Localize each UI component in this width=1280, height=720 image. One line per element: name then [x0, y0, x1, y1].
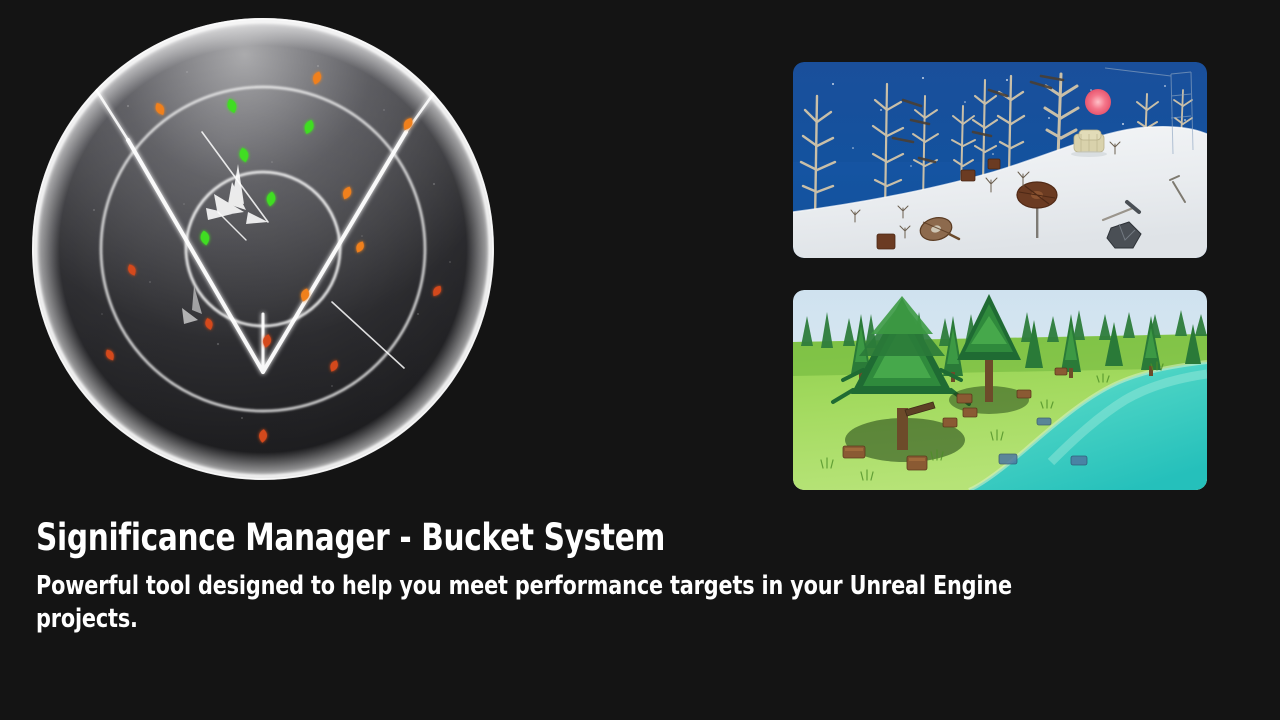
sphere-rim-light: [32, 18, 494, 480]
forest-lake-render: [793, 290, 1207, 490]
caption-block: Significance Manager - Bucket System Pow…: [36, 516, 1036, 636]
sun-disc: [1085, 89, 1111, 115]
page-subtitle: Powerful tool designed to help you meet …: [36, 570, 1020, 636]
forest-lake-thumbnail[interactable]: [793, 290, 1207, 490]
prop-hay-bales: [1071, 130, 1107, 157]
winter-scene-thumbnail[interactable]: [793, 62, 1207, 258]
winter-scene-render: [793, 62, 1207, 258]
significance-sphere-visual: [32, 14, 494, 486]
sphere-render: [32, 14, 494, 486]
slide-canvas: Significance Manager - Bucket System Pow…: [0, 0, 1280, 720]
page-title: Significance Manager - Bucket System: [36, 516, 836, 560]
